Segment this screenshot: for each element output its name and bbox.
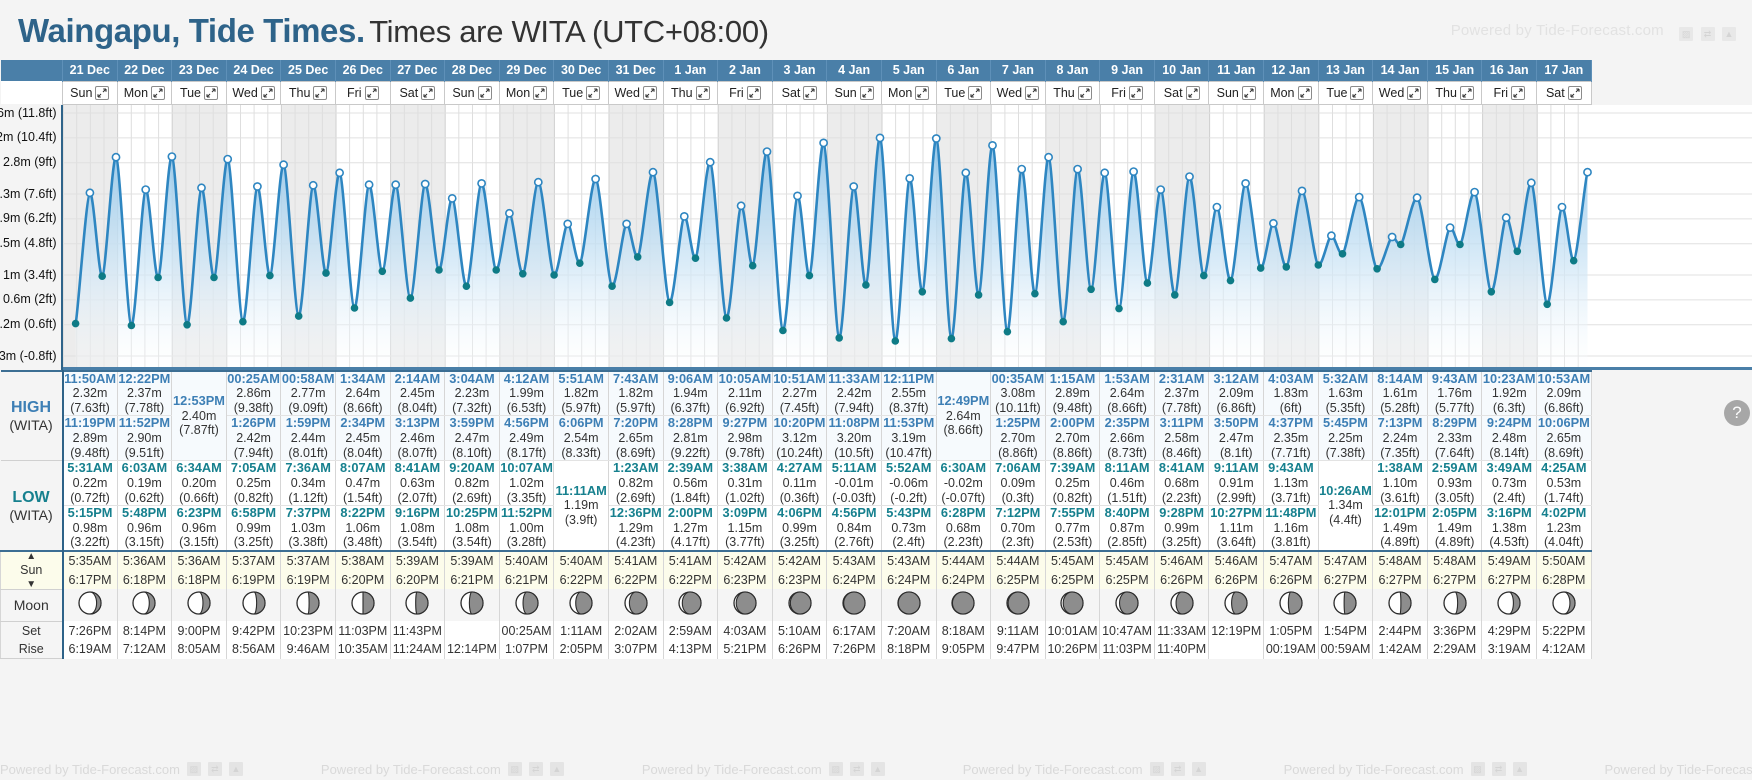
expand-icon[interactable] (478, 86, 492, 100)
weekday-header-25[interactable]: Thu (1427, 81, 1482, 104)
date-header-6[interactable]: 27 Dec (390, 60, 445, 81)
high-tide-point[interactable] (649, 168, 656, 175)
high-tide-point[interactable] (1355, 193, 1362, 200)
low-tide-point[interactable] (1031, 289, 1039, 297)
low-tide-cell-25[interactable]: 2:59AM0.93m(3.05ft) (1427, 461, 1482, 506)
low-tide-point[interactable] (862, 281, 870, 289)
high-tide-point[interactable] (1074, 165, 1081, 172)
high-tide-cell-26[interactable]: 10:23AM1.92m(6.3ft) (1482, 371, 1537, 416)
low-tide-point[interactable] (722, 314, 730, 322)
high-tide-cell-21[interactable]: 3:12AM2.09m(6.86ft) (1209, 371, 1264, 416)
low-tide-point[interactable] (550, 271, 558, 279)
high-tide-cell-5[interactable]: 1:34AM2.64m(8.66ft) (335, 371, 390, 416)
date-header-1[interactable]: 22 Dec (117, 60, 172, 81)
high-tide-cell-23[interactable]: 5:32AM1.63m(5.35ft) (1318, 371, 1373, 416)
low-tide-point[interactable] (1513, 247, 1521, 255)
high-tide-point[interactable] (876, 134, 883, 141)
expand-icon[interactable] (1350, 86, 1364, 100)
low-tide-point[interactable] (1143, 279, 1151, 287)
low-tide-point[interactable] (239, 317, 247, 325)
low-tide-point[interactable] (519, 270, 527, 278)
high-tide-point[interactable] (1157, 186, 1164, 193)
low-tide-cell-18[interactable]: 7:55PM0.77m(2.53ft) (1045, 506, 1100, 551)
high-tide-cell-16[interactable]: 12:49PM2.64m(8.66ft) (936, 371, 991, 461)
high-tide-cell-22[interactable]: 4:03AM1.83m(6ft) (1264, 371, 1319, 416)
low-tide-point[interactable] (350, 304, 358, 312)
low-tide-cell-5[interactable]: 8:07AM0.47m(1.54ft) (335, 461, 390, 506)
high-tide-cell-18[interactable]: 2:00PM2.70m(8.86ft) (1045, 416, 1100, 461)
low-tide-cell-26[interactable]: 3:49AM0.73m(2.4ft) (1482, 461, 1537, 506)
low-tide-cell-24[interactable]: 1:38AM1.10m(3.61ft) (1373, 461, 1428, 506)
low-tide-cell-21[interactable]: 10:27PM1.11m(3.64ft) (1209, 506, 1264, 551)
low-tide-point[interactable] (1396, 240, 1404, 248)
expand-icon[interactable] (803, 86, 817, 100)
high-tide-cell-8[interactable]: 4:56PM2.49m(8.17ft) (499, 416, 554, 461)
date-header-22[interactable]: 12 Jan (1264, 60, 1319, 81)
date-header-26[interactable]: 16 Jan (1482, 60, 1537, 81)
high-tide-point[interactable] (142, 186, 149, 193)
low-tide-point[interactable] (294, 312, 302, 320)
weekday-header-21[interactable]: Sun (1209, 81, 1264, 104)
high-tide-cell-20[interactable]: 3:11PM2.58m(8.46ft) (1154, 416, 1209, 461)
low-tide-point[interactable] (210, 273, 218, 281)
high-tide-point[interactable] (820, 139, 827, 146)
low-tide-point[interactable] (974, 291, 982, 299)
high-tide-cell-17[interactable]: 1:25PM2.70m(8.86ft) (991, 416, 1046, 461)
low-tide-cell-3[interactable]: 7:05AM0.25m(0.82ft) (226, 461, 281, 506)
weekday-header-14[interactable]: Sun (827, 81, 882, 104)
high-tide-cell-12[interactable]: 10:05AM2.11m(6.92ft) (718, 371, 773, 416)
low-tide-cell-24[interactable]: 12:01PM1.49m(4.89ft) (1373, 506, 1428, 551)
high-tide-cell-9[interactable]: 5:51AM1.82m(5.97ft) (554, 371, 609, 416)
low-tide-point[interactable] (1171, 291, 1179, 299)
low-tide-point[interactable] (98, 272, 106, 280)
weekday-header-12[interactable]: Fri (718, 81, 773, 104)
low-tide-cell-16[interactable]: 6:28PM0.68m(2.23ft) (936, 506, 991, 551)
high-tide-cell-1[interactable]: 12:22PM2.37m(7.78ft) (117, 371, 172, 416)
low-tide-cell-19[interactable]: 8:40PM0.87m(2.85ft) (1100, 506, 1155, 551)
low-tide-point[interactable] (805, 271, 813, 279)
expand-icon[interactable] (1407, 86, 1421, 100)
high-tide-point[interactable] (680, 212, 687, 219)
low-tide-point[interactable] (1431, 275, 1439, 283)
high-tide-point[interactable] (1213, 203, 1220, 210)
high-tide-cell-27[interactable]: 10:53AM2.09m(6.86ft) (1537, 371, 1592, 416)
weekday-header-20[interactable]: Sat (1154, 81, 1209, 104)
high-tide-point[interactable] (86, 189, 93, 196)
high-tide-cell-14[interactable]: 11:33AM2.42m(7.94ft) (827, 371, 882, 416)
expand-icon[interactable] (421, 86, 435, 100)
date-header-14[interactable]: 4 Jan (827, 60, 882, 81)
high-tide-cell-24[interactable]: 8:14AM1.61m(5.28ft) (1373, 371, 1428, 416)
low-tide-point[interactable] (1282, 263, 1290, 271)
high-tide-point[interactable] (1558, 203, 1565, 210)
weekday-header-24[interactable]: Wed (1373, 81, 1428, 104)
high-tide-cell-0[interactable]: 11:19PM2.89m(9.48ft) (63, 416, 118, 461)
low-tide-cell-3[interactable]: 6:58PM0.99m(3.25ft) (226, 506, 281, 551)
date-header-5[interactable]: 26 Dec (335, 60, 390, 81)
high-tide-cell-0[interactable]: 11:50AM2.32m(7.63ft) (63, 371, 118, 416)
high-tide-point[interactable] (962, 169, 969, 176)
expand-icon[interactable] (365, 86, 379, 100)
date-header-16[interactable]: 6 Jan (936, 60, 991, 81)
high-tide-cell-2[interactable]: 12:53PM2.40m(7.87ft) (172, 371, 227, 461)
low-tide-cell-14[interactable]: 4:56PM0.84m(2.76ft) (827, 506, 882, 551)
high-tide-cell-5[interactable]: 2:34PM2.45m(8.04ft) (335, 416, 390, 461)
weekday-header-15[interactable]: Mon (881, 81, 936, 104)
high-tide-point[interactable] (197, 184, 204, 191)
weekday-header-2[interactable]: Tue (172, 81, 227, 104)
low-tide-cell-0[interactable]: 5:15PM0.98m(3.22ft) (63, 506, 118, 551)
high-tide-point[interactable] (564, 220, 571, 227)
high-tide-point[interactable] (534, 178, 541, 185)
high-tide-point[interactable] (1388, 233, 1395, 240)
high-tide-point[interactable] (1242, 179, 1249, 186)
date-header-13[interactable]: 3 Jan (772, 60, 827, 81)
low-tide-cell-1[interactable]: 5:48PM0.96m(3.15ft) (117, 506, 172, 551)
low-tide-cell-27[interactable]: 4:02PM1.23m(4.04ft) (1537, 506, 1592, 551)
weekday-header-23[interactable]: Tue (1318, 81, 1373, 104)
low-tide-point[interactable] (1456, 240, 1464, 248)
low-tide-point[interactable] (835, 334, 843, 342)
low-tide-cell-12[interactable]: 3:38AM0.31m(1.02ft) (718, 461, 773, 506)
low-tide-point[interactable] (608, 282, 616, 290)
high-tide-point[interactable] (392, 181, 399, 188)
high-tide-cell-6[interactable]: 3:13PM2.46m(8.07ft) (390, 416, 445, 461)
high-tide-point[interactable] (988, 141, 995, 148)
weekday-header-3[interactable]: Wed (226, 81, 281, 104)
low-tide-cell-7[interactable]: 10:25PM1.08m(3.54ft) (445, 506, 500, 551)
low-tide-point[interactable] (1373, 265, 1381, 273)
low-tide-point[interactable] (435, 266, 443, 274)
high-tide-point[interactable] (112, 153, 119, 160)
weekday-header-6[interactable]: Sat (390, 81, 445, 104)
low-tide-point[interactable] (918, 288, 926, 296)
expand-icon[interactable] (1186, 86, 1200, 100)
low-tide-cell-13[interactable]: 4:27AM0.11m(0.36ft) (772, 461, 827, 506)
weekday-header-11[interactable]: Thu (663, 81, 718, 104)
high-tide-point[interactable] (737, 202, 744, 209)
date-header-0[interactable]: 21 Dec (63, 60, 118, 81)
weekday-header-19[interactable]: Fri (1100, 81, 1155, 104)
date-header-8[interactable]: 29 Dec (499, 60, 554, 81)
date-header-24[interactable]: 14 Jan (1373, 60, 1428, 81)
high-tide-point[interactable] (1327, 232, 1334, 239)
low-tide-cell-13[interactable]: 4:06PM0.99m(3.25ft) (772, 506, 827, 551)
low-tide-point[interactable] (1256, 264, 1264, 272)
expand-icon[interactable] (860, 86, 874, 100)
high-tide-point[interactable] (932, 134, 939, 141)
high-tide-cell-25[interactable]: 9:43AM1.76m(5.77ft) (1427, 371, 1482, 416)
low-tide-point[interactable] (779, 326, 787, 334)
high-tide-point[interactable] (763, 148, 770, 155)
low-tide-point[interactable] (665, 298, 673, 306)
weekday-header-5[interactable]: Fri (335, 81, 390, 104)
low-tide-cell-22[interactable]: 9:43AM1.13m(3.71ft) (1264, 461, 1319, 506)
high-tide-cell-21[interactable]: 3:50PM2.47m(8.1ft) (1209, 416, 1264, 461)
low-tide-point[interactable] (576, 259, 584, 267)
expand-icon[interactable] (1078, 86, 1092, 100)
high-tide-cell-3[interactable]: 1:26PM2.42m(7.94ft) (226, 416, 281, 461)
low-tide-point[interactable] (1087, 285, 1095, 293)
date-header-19[interactable]: 9 Jan (1100, 60, 1155, 81)
low-tide-cell-0[interactable]: 5:31AM0.22m(0.72ft) (63, 461, 118, 506)
high-tide-point[interactable] (1269, 219, 1276, 226)
date-header-2[interactable]: 23 Dec (172, 60, 227, 81)
high-tide-point[interactable] (1471, 188, 1478, 195)
low-tide-cell-8[interactable]: 11:52PM1.00m(3.28ft) (499, 506, 554, 551)
date-header-17[interactable]: 7 Jan (991, 60, 1046, 81)
expand-icon[interactable] (1025, 86, 1039, 100)
low-tide-cell-26[interactable]: 3:16PM1.38m(4.53ft) (1482, 506, 1537, 551)
low-tide-point[interactable] (1543, 300, 1551, 308)
expand-icon[interactable] (1460, 86, 1474, 100)
date-header-18[interactable]: 8 Jan (1045, 60, 1100, 81)
high-tide-cell-8[interactable]: 4:12AM1.99m(6.53ft) (499, 371, 554, 416)
high-tide-cell-13[interactable]: 10:51AM2.27m(7.45ft) (772, 371, 827, 416)
low-tide-cell-9[interactable]: 11:11AM1.19m(3.9ft) (554, 461, 609, 551)
date-header-4[interactable]: 25 Dec (281, 60, 336, 81)
low-tide-point[interactable] (492, 266, 500, 274)
low-tide-point[interactable] (406, 294, 414, 302)
high-tide-cell-1[interactable]: 11:52PM2.90m(9.51ft) (117, 416, 172, 461)
expand-icon[interactable] (1129, 86, 1143, 100)
high-tide-point[interactable] (365, 181, 372, 188)
expand-icon[interactable] (915, 86, 929, 100)
low-tide-cell-11[interactable]: 2:00PM1.27m(4.17ft) (663, 506, 718, 551)
high-tide-point[interactable] (592, 175, 599, 182)
date-header-20[interactable]: 10 Jan (1154, 60, 1209, 81)
low-tide-cell-16[interactable]: 6:30AM-0.02m(-0.07ft) (936, 461, 991, 506)
low-tide-cell-4[interactable]: 7:37PM1.03m(3.38ft) (281, 506, 336, 551)
high-tide-cell-3[interactable]: 00:25AM2.86m(9.38ft) (226, 371, 281, 416)
low-tide-cell-5[interactable]: 8:22PM1.06m(3.48ft) (335, 506, 390, 551)
low-tide-cell-20[interactable]: 8:41AM0.68m(2.23ft) (1154, 461, 1209, 506)
high-tide-cell-6[interactable]: 2:14AM2.45m(8.04ft) (390, 371, 445, 416)
high-tide-point[interactable] (505, 209, 512, 216)
weekday-header-8[interactable]: Mon (499, 81, 554, 104)
tide-curve-plot[interactable] (63, 105, 1752, 370)
expand-icon[interactable] (968, 86, 982, 100)
low-tide-cell-21[interactable]: 9:11AM0.91m(2.99ft) (1209, 461, 1264, 506)
high-tide-cell-14[interactable]: 11:08PM3.20m(10.5ft) (827, 416, 882, 461)
high-tide-point[interactable] (850, 182, 857, 189)
low-tide-point[interactable] (127, 321, 135, 329)
high-tide-cell-9[interactable]: 6:06PM2.54m(8.33ft) (554, 416, 609, 461)
low-tide-point[interactable] (1003, 327, 1011, 335)
expand-icon[interactable] (261, 86, 275, 100)
high-tide-point[interactable] (448, 194, 455, 201)
low-tide-point[interactable] (947, 334, 955, 342)
low-tide-point[interactable] (1487, 288, 1495, 296)
high-tide-cell-20[interactable]: 2:31AM2.37m(7.78ft) (1154, 371, 1209, 416)
low-tide-cell-18[interactable]: 7:39AM0.25m(0.82ft) (1045, 461, 1100, 506)
high-tide-point[interactable] (1185, 173, 1192, 180)
date-header-9[interactable]: 30 Dec (554, 60, 609, 81)
high-tide-cell-15[interactable]: 11:53PM3.19m(10.47ft) (881, 416, 936, 461)
high-tide-point[interactable] (1130, 168, 1137, 175)
weekday-header-22[interactable]: Mon (1264, 81, 1319, 104)
expand-icon[interactable] (95, 86, 109, 100)
low-tide-point[interactable] (1200, 271, 1208, 279)
high-tide-point[interactable] (1018, 165, 1025, 172)
low-tide-cell-15[interactable]: 5:52AM-0.06m(-0.2ft) (881, 461, 936, 506)
low-tide-cell-14[interactable]: 5:11AM-0.01m(-0.03ft) (827, 461, 882, 506)
high-tide-cell-25[interactable]: 8:29PM2.33m(7.64ft) (1427, 416, 1482, 461)
high-tide-point[interactable] (1413, 194, 1420, 201)
low-tide-point[interactable] (266, 271, 274, 279)
low-tide-cell-20[interactable]: 9:28PM0.99m(3.25ft) (1154, 506, 1209, 551)
high-tide-cell-19[interactable]: 1:53AM2.64m(8.66ft) (1100, 371, 1155, 416)
expand-icon[interactable] (696, 86, 710, 100)
date-header-3[interactable]: 24 Dec (226, 60, 281, 81)
high-tide-cell-7[interactable]: 3:59PM2.47m(8.10ft) (445, 416, 500, 461)
low-tide-cell-22[interactable]: 11:48PM1.16m(3.81ft) (1264, 506, 1319, 551)
low-tide-point[interactable] (1059, 317, 1067, 325)
low-tide-point[interactable] (378, 267, 386, 275)
low-tide-point[interactable] (1338, 250, 1346, 258)
high-tide-point[interactable] (421, 180, 428, 187)
low-tide-cell-10[interactable]: 1:23AM0.82m(2.69ft) (608, 461, 663, 506)
weekday-header-0[interactable]: Sun (63, 81, 118, 104)
high-tide-cell-13[interactable]: 10:20PM3.12m(10.24ft) (772, 416, 827, 461)
low-tide-cell-12[interactable]: 3:09PM1.15m(3.77ft) (718, 506, 773, 551)
date-header-10[interactable]: 31 Dec (608, 60, 663, 81)
high-tide-cell-12[interactable]: 9:27PM2.98m(9.78ft) (718, 416, 773, 461)
low-tide-point[interactable] (748, 261, 756, 269)
low-tide-cell-15[interactable]: 5:43PM0.73m(2.4ft) (881, 506, 936, 551)
high-tide-cell-7[interactable]: 3:04AM2.23m(7.32ft) (445, 371, 500, 416)
high-tide-cell-24[interactable]: 7:13PM2.24m(7.35ft) (1373, 416, 1428, 461)
high-tide-point[interactable] (793, 192, 800, 199)
high-tide-point[interactable] (280, 161, 287, 168)
low-tide-cell-8[interactable]: 10:07AM1.02m(3.35ft) (499, 461, 554, 506)
date-header-7[interactable]: 28 Dec (445, 60, 500, 81)
high-tide-point[interactable] (478, 179, 485, 186)
expand-icon[interactable] (1298, 86, 1312, 100)
low-tide-cell-17[interactable]: 7:12PM0.70m(2.3ft) (991, 506, 1046, 551)
low-tide-cell-6[interactable]: 9:16PM1.08m(3.54ft) (390, 506, 445, 551)
low-tide-point[interactable] (1226, 276, 1234, 284)
weekday-header-27[interactable]: Sat (1537, 81, 1592, 104)
high-tide-cell-17[interactable]: 00:35AM3.08m(10.11ft) (991, 371, 1046, 416)
high-tide-point[interactable] (1502, 214, 1509, 221)
low-tide-cell-11[interactable]: 2:39AM0.56m(1.84ft) (663, 461, 718, 506)
expand-icon[interactable] (1242, 86, 1256, 100)
low-tide-cell-7[interactable]: 9:20AM0.82m(2.69ft) (445, 461, 500, 506)
low-tide-cell-25[interactable]: 2:05PM1.49m(4.89ft) (1427, 506, 1482, 551)
weekday-header-9[interactable]: Tue (554, 81, 609, 104)
low-tide-point[interactable] (691, 254, 699, 262)
low-tide-point[interactable] (183, 321, 191, 329)
high-tide-point[interactable] (1527, 179, 1534, 186)
low-tide-cell-2[interactable]: 6:23PM0.96m(3.15ft) (172, 506, 227, 551)
high-tide-point[interactable] (1045, 153, 1052, 160)
date-header-15[interactable]: 5 Jan (881, 60, 936, 81)
low-tide-point[interactable] (154, 273, 162, 281)
expand-icon[interactable] (151, 86, 165, 100)
date-header-27[interactable]: 17 Jan (1537, 60, 1592, 81)
weekday-header-7[interactable]: Sun (445, 81, 500, 104)
weekday-header-17[interactable]: Wed (991, 81, 1046, 104)
expand-icon[interactable] (586, 86, 600, 100)
high-tide-point[interactable] (253, 182, 260, 189)
expand-icon[interactable] (747, 86, 761, 100)
date-header-12[interactable]: 2 Jan (718, 60, 773, 81)
high-tide-cell-4[interactable]: 00:58AM2.77m(9.09ft) (281, 371, 336, 416)
low-tide-point[interactable] (462, 282, 470, 290)
weekday-header-18[interactable]: Thu (1045, 81, 1100, 104)
date-header-21[interactable]: 11 Jan (1209, 60, 1264, 81)
low-tide-point[interactable] (322, 269, 330, 277)
expand-icon[interactable] (313, 86, 327, 100)
low-tide-cell-19[interactable]: 8:11AM0.46m(1.51ft) (1100, 461, 1155, 506)
low-tide-point[interactable] (633, 253, 641, 261)
high-tide-point[interactable] (309, 181, 316, 188)
high-tide-cell-26[interactable]: 9:24PM2.48m(8.14ft) (1482, 416, 1537, 461)
weekday-header-10[interactable]: Wed (608, 81, 663, 104)
high-tide-cell-10[interactable]: 7:43AM1.82m(5.97ft) (608, 371, 663, 416)
high-tide-cell-19[interactable]: 2:35PM2.66m(8.73ft) (1100, 416, 1155, 461)
high-tide-point[interactable] (1101, 169, 1108, 176)
low-tide-cell-10[interactable]: 12:36PM1.29m(4.23ft) (608, 506, 663, 551)
low-tide-cell-4[interactable]: 7:36AM0.34m(1.12ft) (281, 461, 336, 506)
high-tide-cell-4[interactable]: 1:59PM2.44m(8.01ft) (281, 416, 336, 461)
high-tide-point[interactable] (906, 174, 913, 181)
expand-icon[interactable] (1568, 86, 1582, 100)
low-tide-point[interactable] (891, 337, 899, 345)
weekday-header-4[interactable]: Thu (281, 81, 336, 104)
weekday-header-13[interactable]: Sat (772, 81, 827, 104)
high-tide-cell-23[interactable]: 5:45PM2.25m(7.38ft) (1318, 416, 1373, 461)
low-tide-cell-1[interactable]: 6:03AM0.19m(0.62ft) (117, 461, 172, 506)
low-tide-cell-6[interactable]: 8:41AM0.63m(2.07ft) (390, 461, 445, 506)
weekday-header-16[interactable]: Tue (936, 81, 991, 104)
low-tide-cell-23[interactable]: 10:26AM1.34m(4.4ft) (1318, 461, 1373, 551)
high-tide-point[interactable] (706, 158, 713, 165)
date-header-23[interactable]: 13 Jan (1318, 60, 1373, 81)
low-tide-point[interactable] (1314, 261, 1322, 269)
high-tide-point[interactable] (1583, 168, 1590, 175)
high-tide-point[interactable] (623, 220, 630, 227)
expand-icon[interactable] (204, 86, 218, 100)
low-tide-point[interactable] (1115, 304, 1123, 312)
high-tide-point[interactable] (224, 155, 231, 162)
low-tide-cell-2[interactable]: 6:34AM0.20m(0.66ft) (172, 461, 227, 506)
high-tide-cell-27[interactable]: 10:06PM2.65m(8.69ft) (1537, 416, 1592, 461)
high-tide-cell-18[interactable]: 1:15AM2.89m(9.48ft) (1045, 371, 1100, 416)
high-tide-cell-11[interactable]: 8:28PM2.81m(9.22ft) (663, 416, 718, 461)
low-tide-cell-17[interactable]: 7:06AM0.09m(0.3ft) (991, 461, 1046, 506)
high-tide-point[interactable] (336, 169, 343, 176)
weekday-header-26[interactable]: Fri (1482, 81, 1537, 104)
date-header-11[interactable]: 1 Jan (663, 60, 718, 81)
expand-icon[interactable] (643, 86, 657, 100)
expand-icon[interactable] (533, 86, 547, 100)
high-tide-cell-15[interactable]: 12:11PM2.55m(8.37ft) (881, 371, 936, 416)
high-tide-point[interactable] (1298, 187, 1305, 194)
low-tide-point[interactable] (71, 319, 79, 327)
high-tide-point[interactable] (1446, 224, 1453, 231)
question-mark-badge[interactable]: ? (1724, 400, 1750, 426)
high-tide-cell-11[interactable]: 9:06AM1.94m(6.37ft) (663, 371, 718, 416)
low-tide-cell-27[interactable]: 4:25AM0.53m(1.74ft) (1537, 461, 1592, 506)
weekday-header-1[interactable]: Mon (117, 81, 172, 104)
high-tide-cell-22[interactable]: 4:37PM2.35m(7.71ft) (1264, 416, 1319, 461)
low-tide-point[interactable] (1569, 256, 1577, 264)
high-tide-point[interactable] (168, 153, 175, 160)
date-header-25[interactable]: 15 Jan (1427, 60, 1482, 81)
